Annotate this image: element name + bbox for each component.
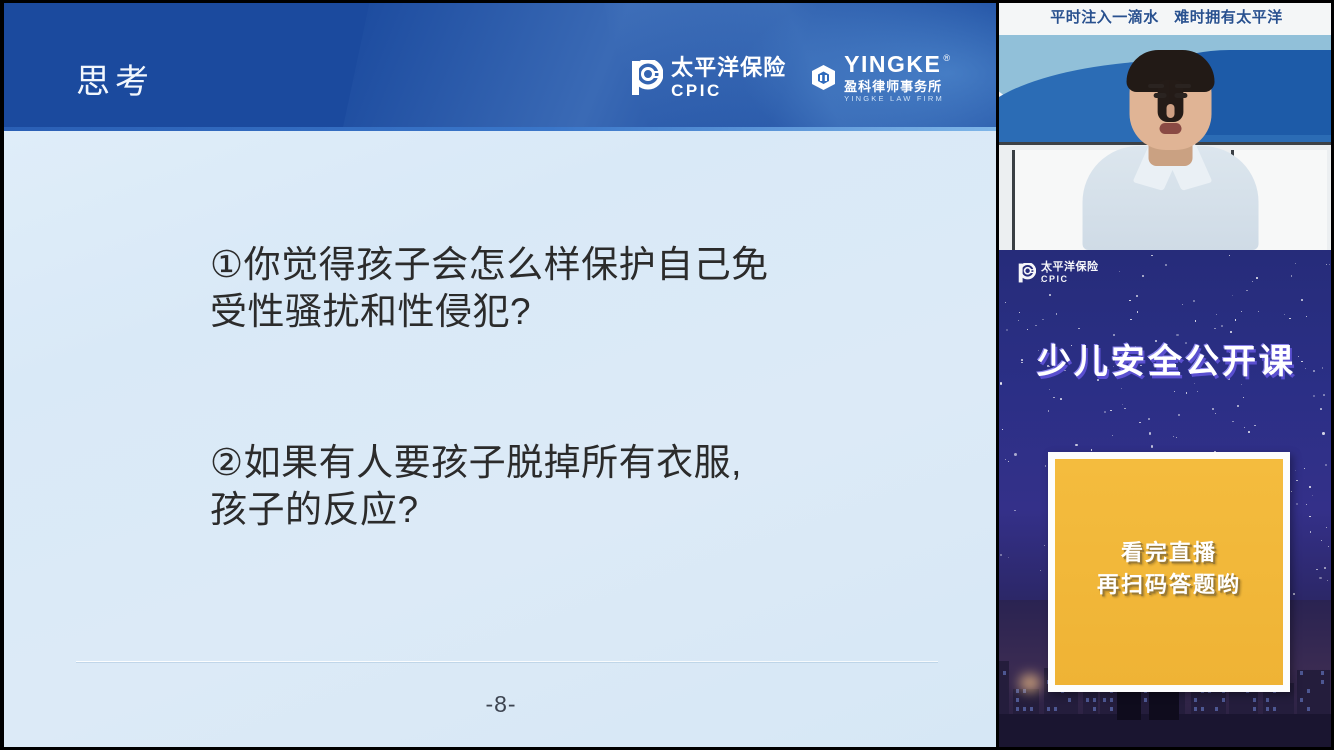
poster-cpic-wordmark: 太平洋保险 CPIC — [1041, 262, 1099, 284]
frame-border-left — [0, 0, 4, 750]
wall-slogan: 平时注入一滴水 难时拥有太平洋 — [999, 6, 1334, 27]
poster-title: 少儿安全公开课 — [999, 334, 1334, 383]
building-window — [1273, 707, 1276, 711]
building-window — [1266, 698, 1269, 702]
building-window — [1222, 698, 1225, 702]
building-window — [1253, 698, 1256, 702]
cpic-mark-icon — [629, 60, 663, 96]
building-window — [1194, 698, 1197, 702]
building — [999, 661, 1009, 716]
cpic-label-en: CPIC — [671, 82, 786, 99]
poster-cpic-label-cn: 太平洋保险 — [1041, 262, 1099, 273]
building-window — [1253, 707, 1256, 711]
building-window — [1016, 689, 1019, 693]
presenter-eye-right — [1174, 93, 1187, 98]
presenter-brow-right — [1175, 84, 1191, 88]
question-item-2: ②如果有人要孩子脱掉所有衣服, 孩子的反应? — [210, 439, 742, 534]
frame-border-top — [0, 0, 1334, 3]
building-window — [1093, 707, 1096, 711]
yingke-label-sub: YINGKE LAW FIRM — [844, 95, 950, 103]
poster-cpic-label-en: CPIC — [1041, 275, 1099, 284]
slide-header-bar: 思考 太平洋保险 CPIC — [4, 3, 998, 131]
presenter-brow-left — [1148, 84, 1164, 88]
yingke-label-cn: 盈科律师事务所 — [844, 80, 950, 93]
building-window — [1321, 671, 1324, 675]
livestream-screen: 思考 太平洋保险 CPIC — [0, 0, 1334, 750]
presenter-nose — [1166, 104, 1174, 118]
registered-mark-icon: ® — [943, 54, 950, 63]
yingke-name-row: YINGKE ® — [844, 53, 950, 76]
building-window — [1201, 707, 1204, 711]
slide-body: ①你觉得孩子会怎么样保护自己免 受性骚扰和性侵犯? ②如果有人要孩子脱掉所有衣服… — [4, 131, 998, 747]
building-window — [1054, 707, 1057, 711]
presenter-mouth — [1159, 123, 1181, 134]
poster-cpic-logo: 太平洋保险 CPIC — [1017, 262, 1099, 284]
cpic-logo: 太平洋保险 CPIC — [629, 57, 786, 99]
building-window — [1307, 689, 1310, 693]
note-card-text: 看完直播 再扫码答题哟 — [1055, 537, 1283, 601]
building-window — [1144, 698, 1147, 702]
building-window — [1016, 698, 1019, 702]
building-window — [1321, 680, 1324, 684]
footer-divider — [76, 661, 938, 662]
building-window — [1023, 707, 1026, 711]
note-line-2: 再扫码答题哟 — [1055, 569, 1283, 601]
scan-qr-note-card[interactable]: 看完直播 再扫码答题哟 — [1048, 452, 1290, 692]
presenter-figure — [1082, 54, 1258, 250]
building-window — [1016, 707, 1019, 711]
question-item-1: ①你觉得孩子会怎么样保护自己免 受性骚扰和性侵犯? — [210, 241, 769, 336]
building-window — [1110, 698, 1113, 702]
building-window — [1300, 671, 1303, 675]
building-window — [1030, 707, 1033, 711]
building-window — [1093, 698, 1096, 702]
building-window — [1110, 707, 1113, 711]
yingke-logo: YINGKE ® 盈科律师事务所 YINGKE LAW FIRM — [810, 53, 950, 103]
building — [1297, 670, 1330, 716]
slide-title: 思考 — [76, 65, 154, 99]
building-window — [1307, 707, 1310, 711]
building-window — [1003, 671, 1006, 675]
poster-cpic-mark-icon — [1017, 263, 1036, 283]
yingke-label-en: YINGKE — [844, 53, 941, 76]
page-number: -8- — [4, 691, 998, 718]
cpic-label-cn: 太平洋保险 — [671, 57, 786, 79]
building-window — [1047, 707, 1050, 711]
building-window — [1103, 698, 1106, 702]
logo-group: 太平洋保险 CPIC YINGKE ® — [629, 53, 950, 103]
slide-panel-gap — [996, 0, 999, 750]
building-window — [1068, 698, 1071, 702]
building — [1013, 689, 1039, 716]
building-window — [1266, 707, 1269, 711]
presentation-slide: 思考 太平洋保险 CPIC — [4, 3, 998, 747]
building-window — [1086, 698, 1089, 702]
presenter-video-feed[interactable]: 平时注入一滴水 难时拥有太平洋 — [999, 0, 1334, 250]
presenter-eye-left — [1153, 93, 1166, 98]
building-window — [1194, 707, 1197, 711]
yingke-wordmark: YINGKE ® 盈科律师事务所 YINGKE LAW FIRM — [844, 53, 950, 103]
cpic-wordmark: 太平洋保险 CPIC — [671, 57, 786, 99]
building-window — [1215, 707, 1218, 711]
city-light-glow — [1019, 674, 1041, 692]
note-line-1: 看完直播 — [1055, 537, 1283, 569]
building-window — [1300, 698, 1303, 702]
yingke-mark-icon — [810, 64, 837, 91]
